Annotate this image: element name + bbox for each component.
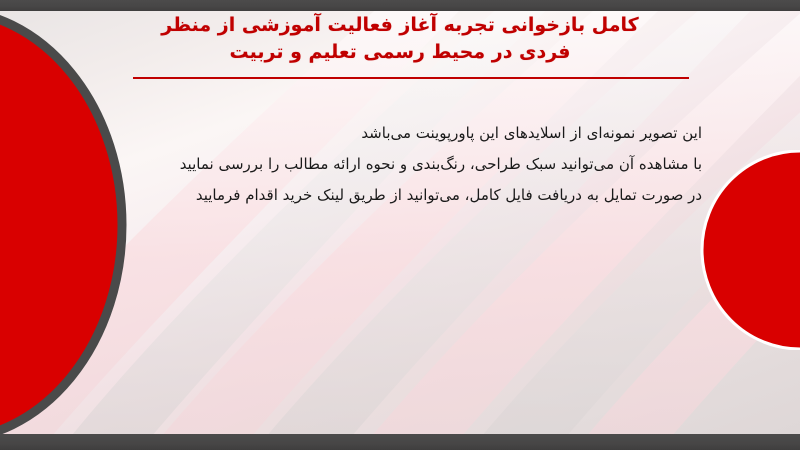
presentation-slide: کامل بازخوانی تجربه آغاز فعالیت آموزشی ا…: [0, 0, 800, 450]
bottom-banner: [0, 434, 800, 450]
title-underline: [133, 77, 689, 79]
body-line-2: با مشاهده آن می‌توانید سبک طراحی، رنگ‌بن…: [72, 149, 702, 180]
body-line-1: این تصویر نمونه‌ای از اسلایدهای این پاور…: [72, 118, 702, 149]
title-line-1: کامل بازخوانی تجربه آغاز فعالیت آموزشی ا…: [0, 12, 800, 39]
slide-body: این تصویر نمونه‌ای از اسلایدهای این پاور…: [72, 118, 702, 211]
top-banner: [0, 0, 800, 11]
body-line-3: در صورت تمایل به دریافت فایل کامل، می‌تو…: [72, 180, 702, 211]
title-line-2: فردی در محیط رسمی تعلیم و تربیت: [0, 39, 800, 66]
slide-content: کامل بازخوانی تجربه آغاز فعالیت آموزشی ا…: [0, 0, 800, 450]
slide-title: کامل بازخوانی تجربه آغاز فعالیت آموزشی ا…: [0, 12, 800, 66]
